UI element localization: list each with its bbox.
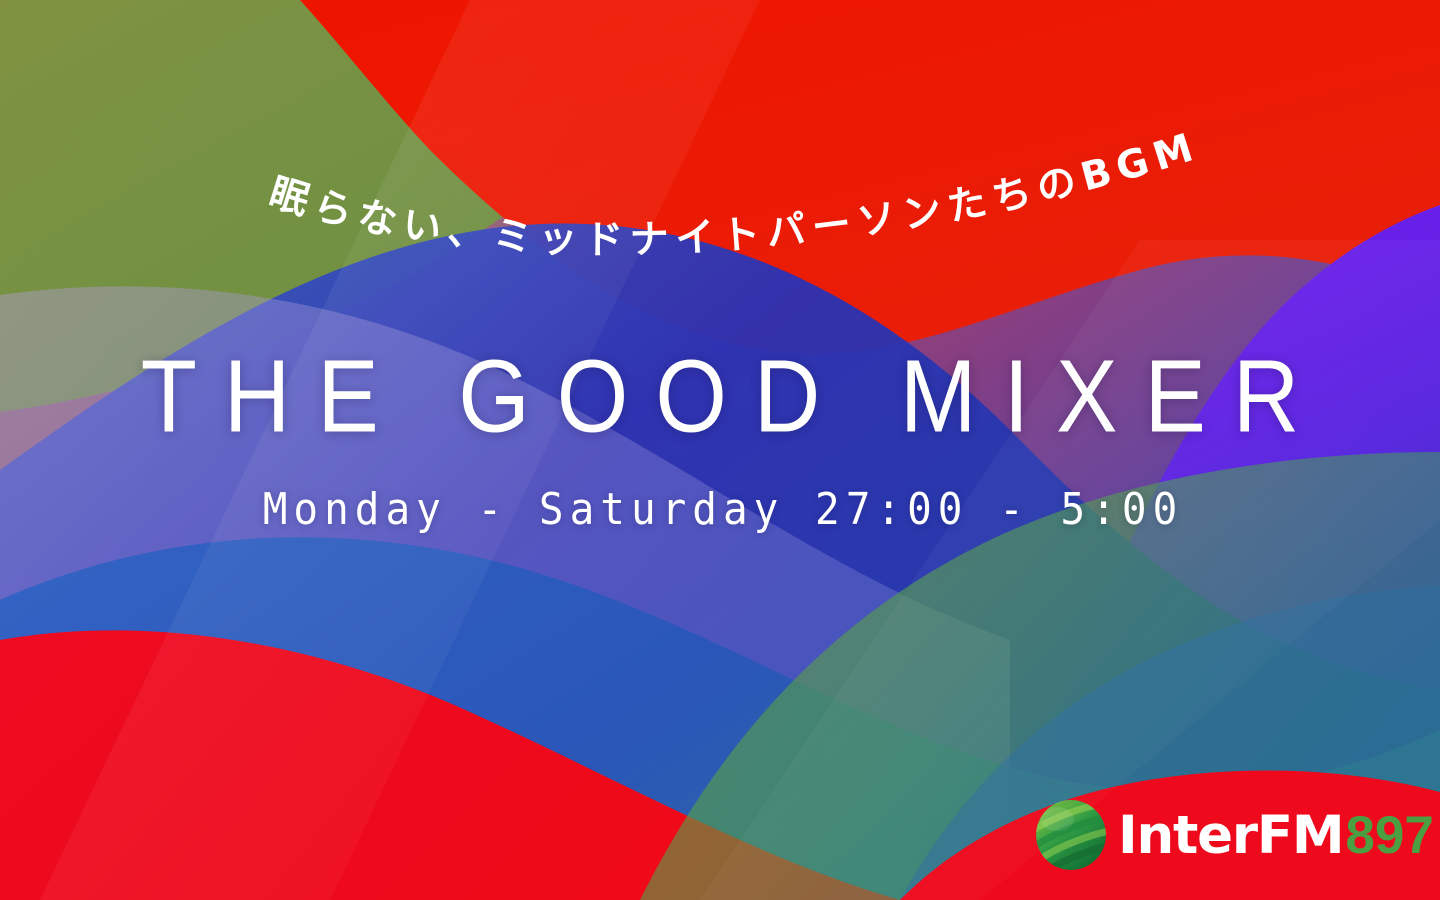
broadcast-schedule: Monday - Saturday 27:00 - 5:00	[0, 488, 1440, 531]
station-name: InterFM	[1118, 809, 1343, 862]
station-frequency: 897	[1345, 809, 1433, 862]
tagline-arc: 眠らない、ミッドナイトパーソンたちのBGM	[0, 0, 1440, 300]
page-title: THE GOOD MIXER	[0, 345, 1440, 448]
station-wordmark: InterFM 897	[1118, 809, 1434, 862]
globe-sphere-icon	[1033, 797, 1109, 873]
station-logo[interactable]: InterFM 897	[1033, 795, 1434, 875]
tagline-text: 眠らない、ミッドナイトパーソンたちのBGM	[264, 124, 1205, 264]
radio-program-poster: 眠らない、ミッドナイトパーソンたちのBGM THE GOOD MIXER Mon…	[0, 0, 1440, 900]
